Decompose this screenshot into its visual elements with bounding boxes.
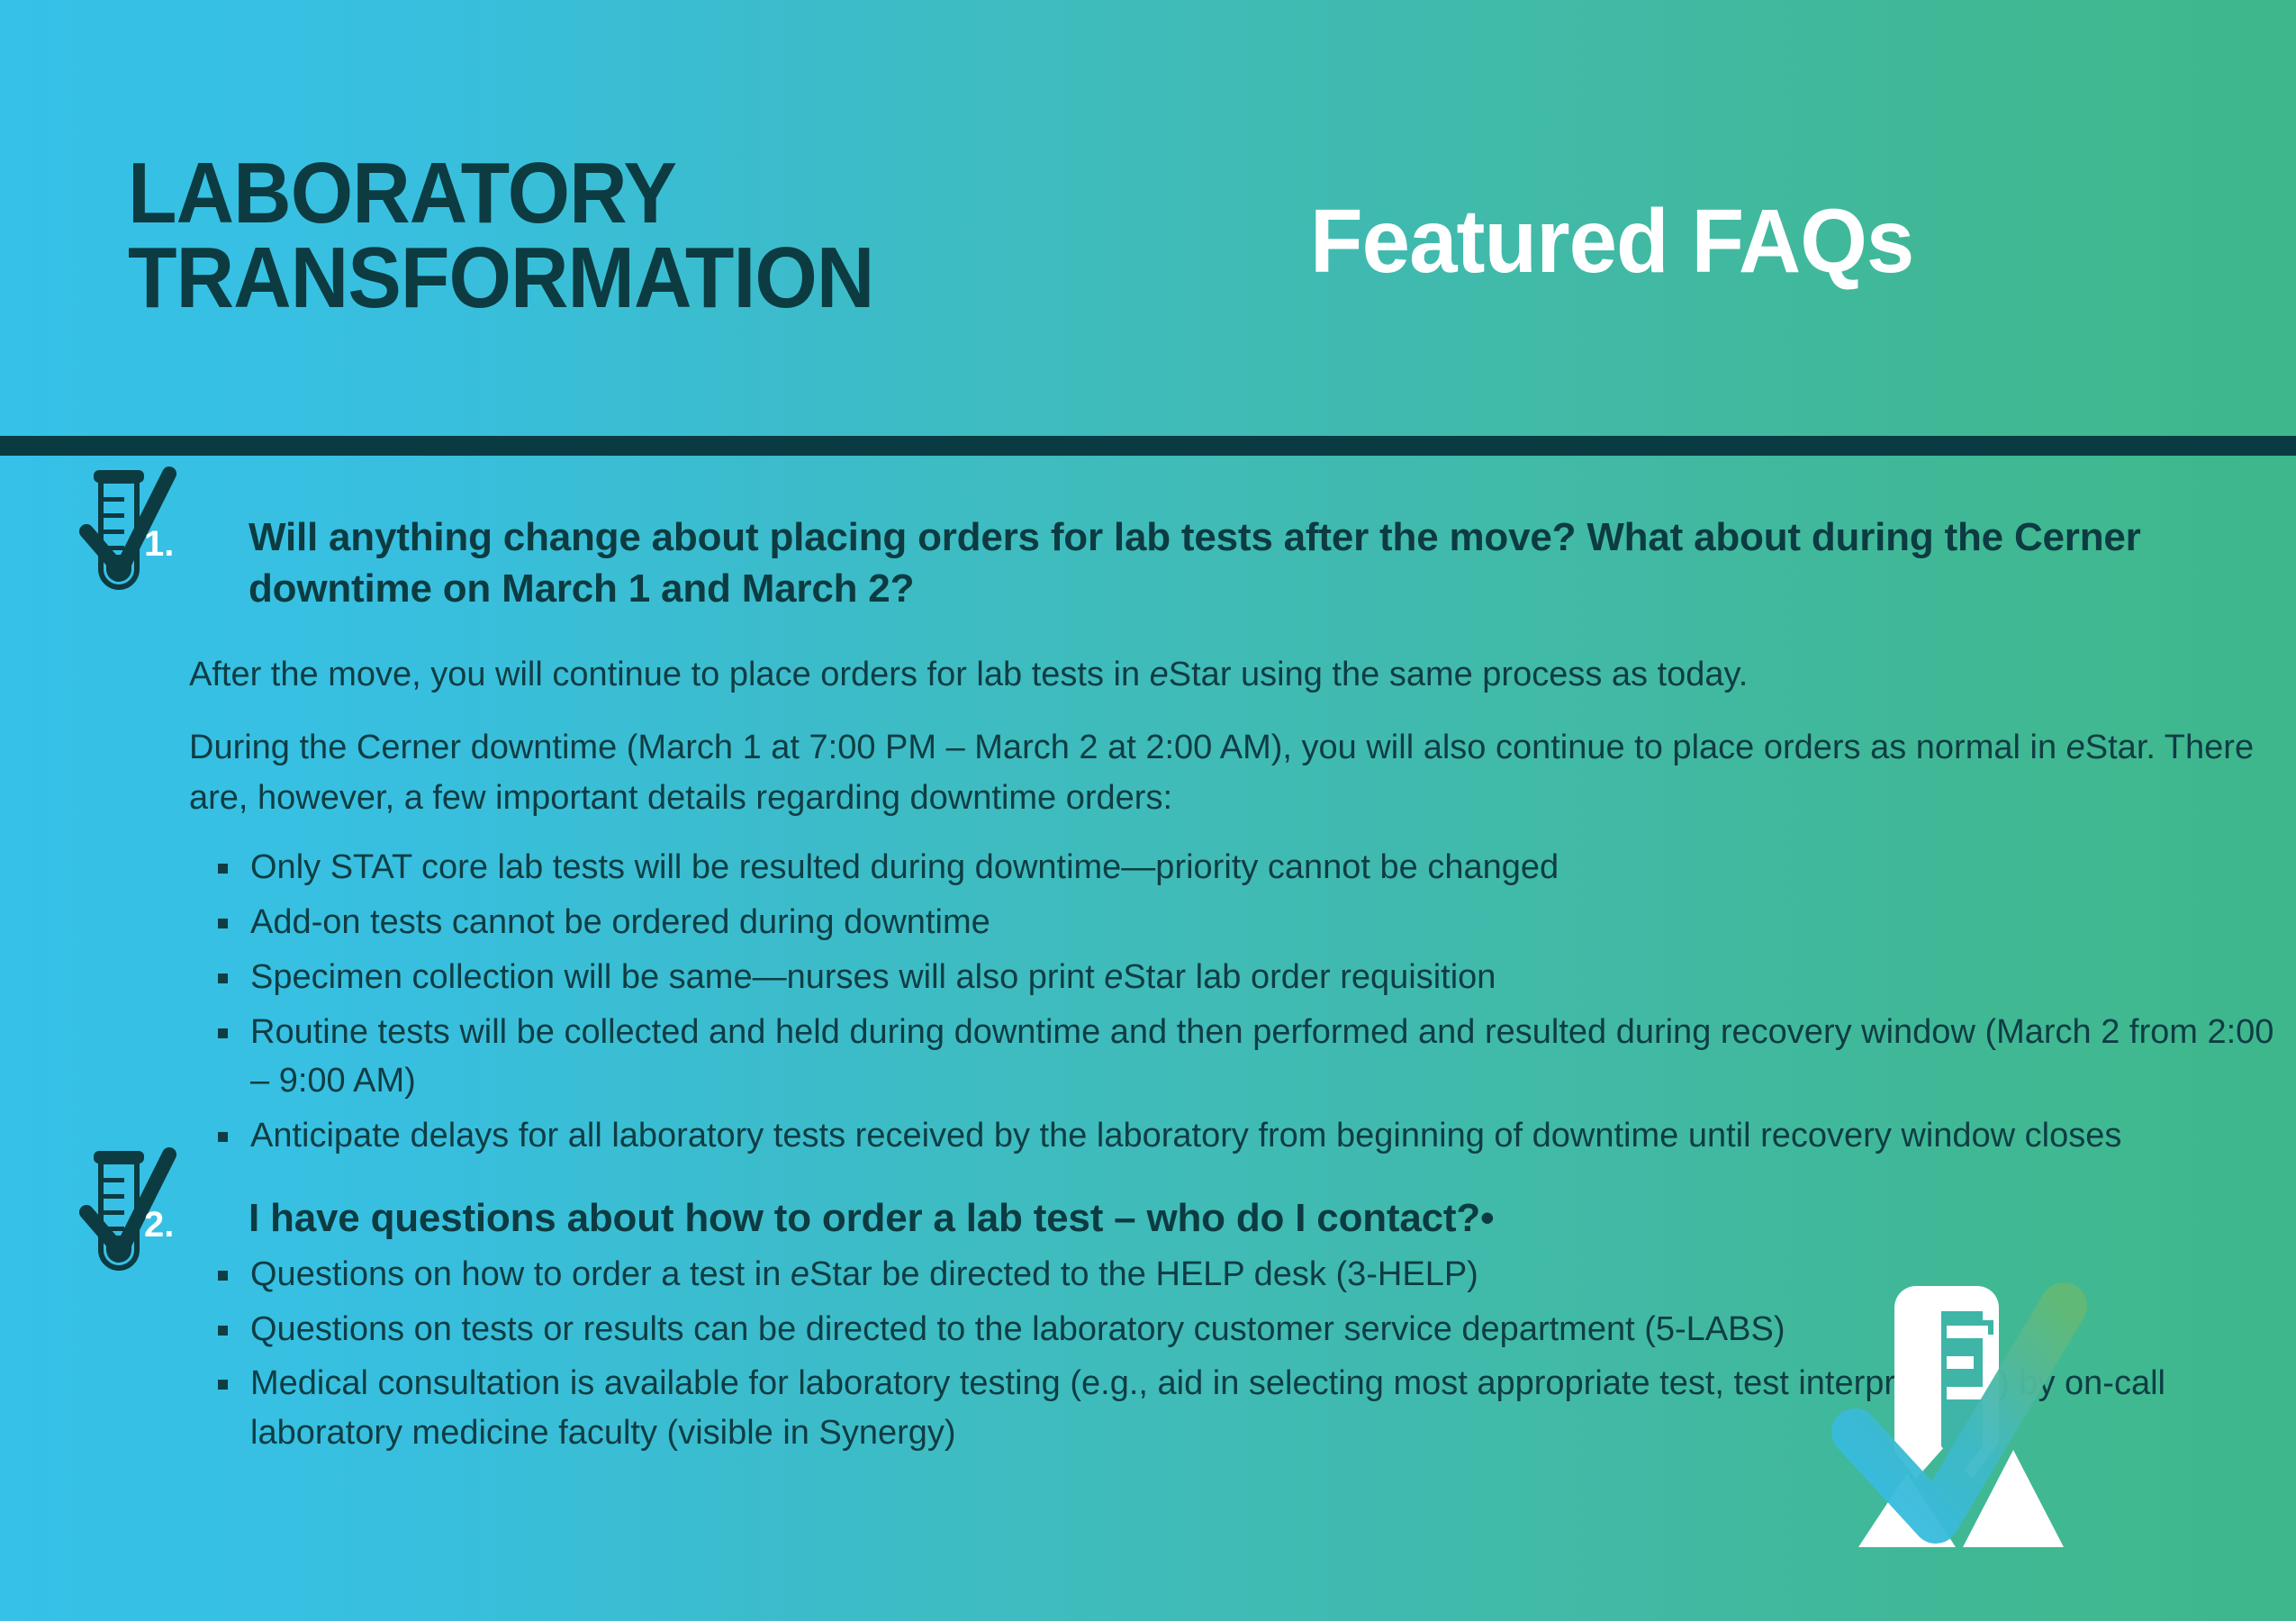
list-item: Add-on tests cannot be ordered during do… [212,898,2287,947]
paragraph-text-1a: After the move, you will continue to pla… [189,656,1748,693]
bullet-text: Medical consultation is available for la… [250,1364,2165,1452]
faq-bullet-list-1: Only STAT core lab tests will be resulte… [189,843,2287,1160]
bullet-text: Questions on how to order a test in eSta… [250,1255,1478,1293]
bullet-text: Questions on tests or results can be dir… [250,1310,1785,1348]
faq-bullet-list-2: Questions on how to order a test in eSta… [189,1250,2287,1458]
logo-mountains-icon [1858,1450,2064,1547]
bullet-text: Specimen collection will be same—nurses … [250,958,1496,996]
bullet-text: Only STAT core lab tests will be resulte… [250,848,1559,886]
question-trailing-bullet: • [1480,1196,1494,1240]
list-item: Anticipate delays for all laboratory tes… [212,1111,2287,1161]
faq-paragraph: After the move, you will continue to pla… [189,650,2287,700]
header-divider-rule [0,436,2296,456]
list-item: Specimen collection will be same—nurses … [212,953,2287,1002]
list-item: Questions on tests or results can be dir… [212,1305,2287,1354]
faq-question-2: I have questions about how to order a la… [249,1192,2157,1244]
list-item: Only STAT core lab tests will be resulte… [212,843,2287,892]
faq-number-1: 1. [144,526,174,562]
bullet-text: Anticipate delays for all laboratory tes… [250,1117,2121,1155]
paragraph-text-1b: During the Cerner downtime (March 1 at 7… [189,729,2254,816]
faq-question-1: Will anything change about placing order… [249,512,2157,614]
faq-body-2: Questions on how to order a test in eSta… [189,1250,2287,1463]
program-title: LABORATORY TRANSFORMATION [128,151,1116,321]
section-title: Featured FAQs [1310,196,1913,286]
faq-question-text-2: I have questions about how to order a la… [249,1196,1480,1240]
list-item: Medical consultation is available for la… [212,1359,2287,1457]
bullet-text: Routine tests will be collected and held… [250,1013,2273,1100]
bullet-text: Add-on tests cannot be ordered during do… [250,903,990,941]
slide-header: LABORATORY TRANSFORMATION Featured FAQs [0,0,2296,436]
faq-body-1: After the move, you will continue to pla… [189,650,2287,1166]
slide-canvas: LABORATORY TRANSFORMATION Featured FAQs [0,0,2296,1621]
list-item: Routine tests will be collected and held… [212,1008,2287,1106]
faq-paragraph: During the Cerner downtime (March 1 at 7… [189,723,2287,823]
faq-number-2: 2. [144,1207,174,1243]
list-item: Questions on how to order a test in eSta… [212,1250,2287,1300]
